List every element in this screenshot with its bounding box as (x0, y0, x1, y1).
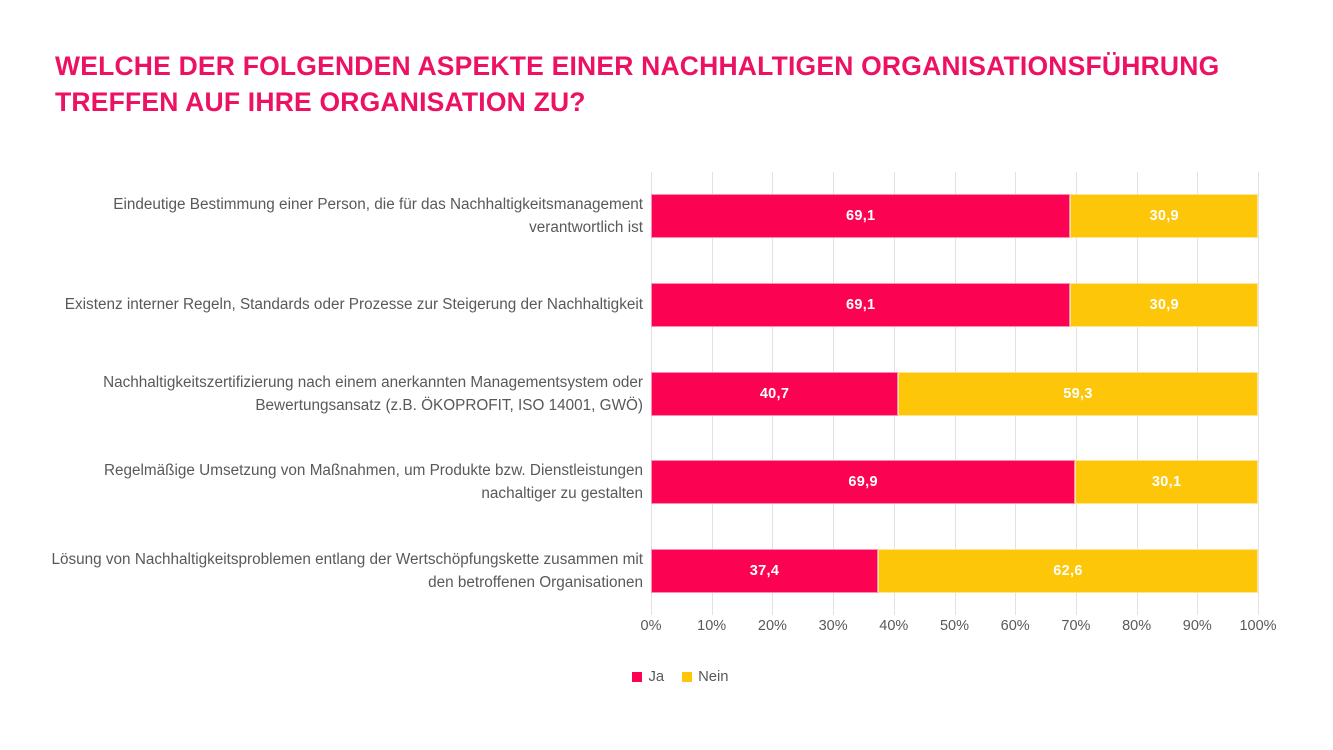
chart-figure: Eindeutige Bestimmung einer Person, die … (0, 0, 1333, 750)
bar-segment-nein[interactable]: 62,6 (878, 549, 1258, 593)
plot-area: 69,130,969,130,940,759,369,930,137,462,6 (651, 172, 1258, 615)
category-label: Existenz interner Regeln, Standards oder… (41, 293, 651, 316)
x-tick-label: 0% (641, 618, 662, 634)
legend-swatch-icon (632, 672, 642, 682)
bar-row[interactable]: 69,130,9 (651, 194, 1258, 238)
category-label: Eindeutige Bestimmung einer Person, die … (41, 193, 651, 239)
bar-segment-ja[interactable]: 69,1 (651, 194, 1070, 238)
chart-legend: JaNein (0, 669, 1333, 685)
legend-label: Ja (648, 669, 664, 685)
x-tick-label: 10% (697, 618, 726, 634)
category-axis-labels: Eindeutige Bestimmung einer Person, die … (33, 172, 651, 615)
x-tick-label: 80% (1122, 618, 1151, 634)
x-tick-label: 100% (1239, 618, 1276, 634)
x-tick-label: 90% (1183, 618, 1212, 634)
x-tick-label: 40% (879, 618, 908, 634)
legend-swatch-icon (682, 672, 692, 682)
x-tick-label: 30% (819, 618, 848, 634)
legend-item[interactable]: Nein (682, 669, 728, 685)
category-label: Regelmäßige Umsetzung von Maßnahmen, um … (41, 459, 651, 505)
bar-segment-ja[interactable]: 69,9 (651, 460, 1075, 504)
bar-segment-nein[interactable]: 30,1 (1075, 460, 1258, 504)
gridline (1258, 172, 1259, 615)
legend-label: Nein (698, 669, 728, 685)
bar-row[interactable]: 40,759,3 (651, 372, 1258, 416)
x-tick-label: 50% (940, 618, 969, 634)
bar-row[interactable]: 37,462,6 (651, 549, 1258, 593)
x-tick-label: 70% (1061, 618, 1090, 634)
bar-segment-nein[interactable]: 59,3 (898, 372, 1258, 416)
bar-row[interactable]: 69,130,9 (651, 283, 1258, 327)
bar-segment-ja[interactable]: 40,7 (651, 372, 898, 416)
bar-segment-nein[interactable]: 30,9 (1070, 283, 1258, 327)
bar-row[interactable]: 69,930,1 (651, 460, 1258, 504)
bar-segment-ja[interactable]: 37,4 (651, 549, 878, 593)
category-label: Lösung von Nachhaltigkeitsproblemen entl… (41, 548, 651, 594)
bar-segment-ja[interactable]: 69,1 (651, 283, 1070, 327)
x-tick-label: 60% (1001, 618, 1030, 634)
value-axis: 0%10%20%30%40%50%60%70%80%90%100% (651, 618, 1258, 642)
legend-item[interactable]: Ja (632, 669, 664, 685)
x-tick-label: 20% (758, 618, 787, 634)
bar-segment-nein[interactable]: 30,9 (1070, 194, 1258, 238)
category-label: Nachhaltigkeitszertifizierung nach einem… (41, 371, 651, 417)
